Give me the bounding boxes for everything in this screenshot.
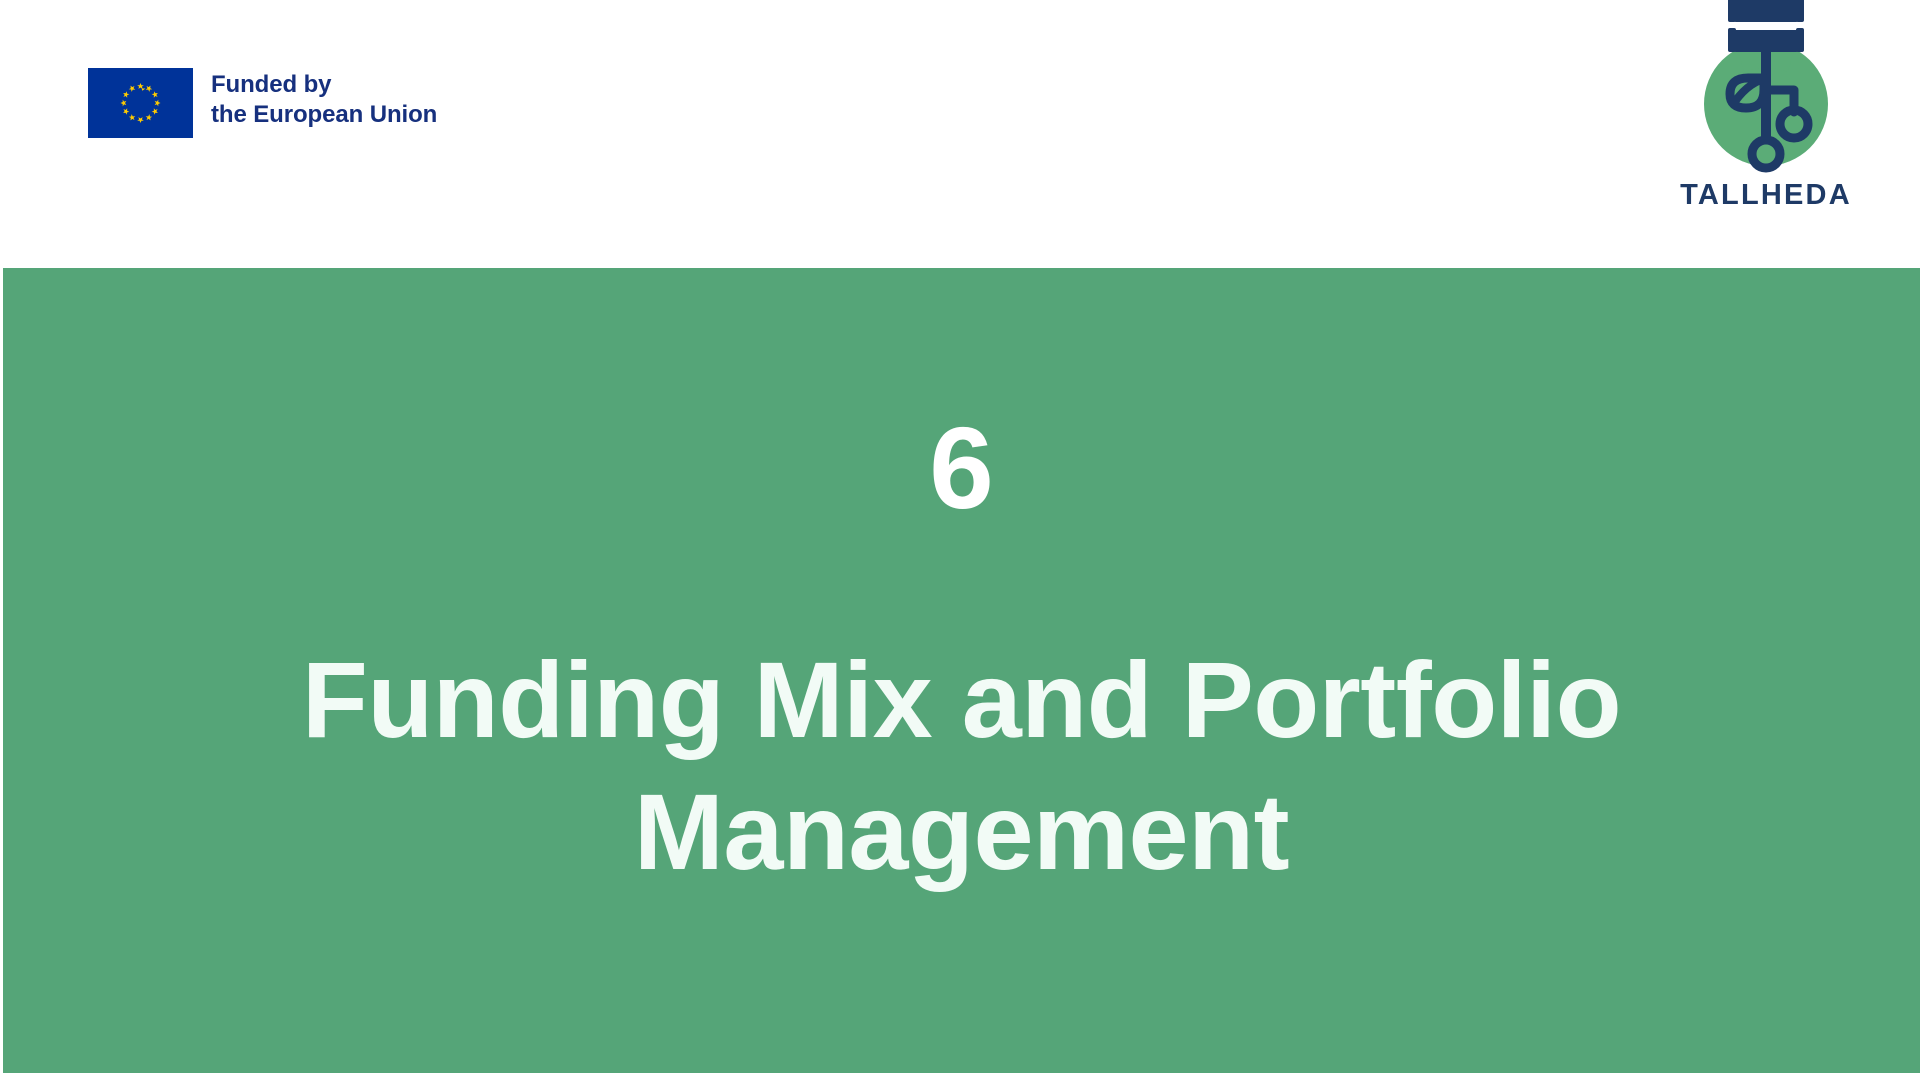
section-title: Funding Mix and Portfolio Management [292, 634, 1632, 898]
tallheda-wordmark: TALLHEDA [1676, 180, 1856, 210]
eu-funding-text: Funded by the European Union [211, 68, 437, 130]
eu-funding-line2: the European Union [211, 100, 437, 130]
eu-funding-lockup: Funded by the European Union [88, 68, 437, 138]
slide-body: 6 Funding Mix and Portfolio Management [3, 268, 1920, 1073]
slide-header: Funded by the European Union [0, 0, 1920, 268]
presentation-slide: Funded by the European Union [0, 0, 1920, 1080]
section-number: 6 [929, 410, 994, 526]
eu-flag-icon [88, 68, 193, 138]
tallheda-logo: TALLHEDA [1676, 0, 1856, 210]
eu-funding-line1: Funded by [211, 70, 437, 100]
tallheda-bulb-logo-icon [1676, 0, 1856, 186]
